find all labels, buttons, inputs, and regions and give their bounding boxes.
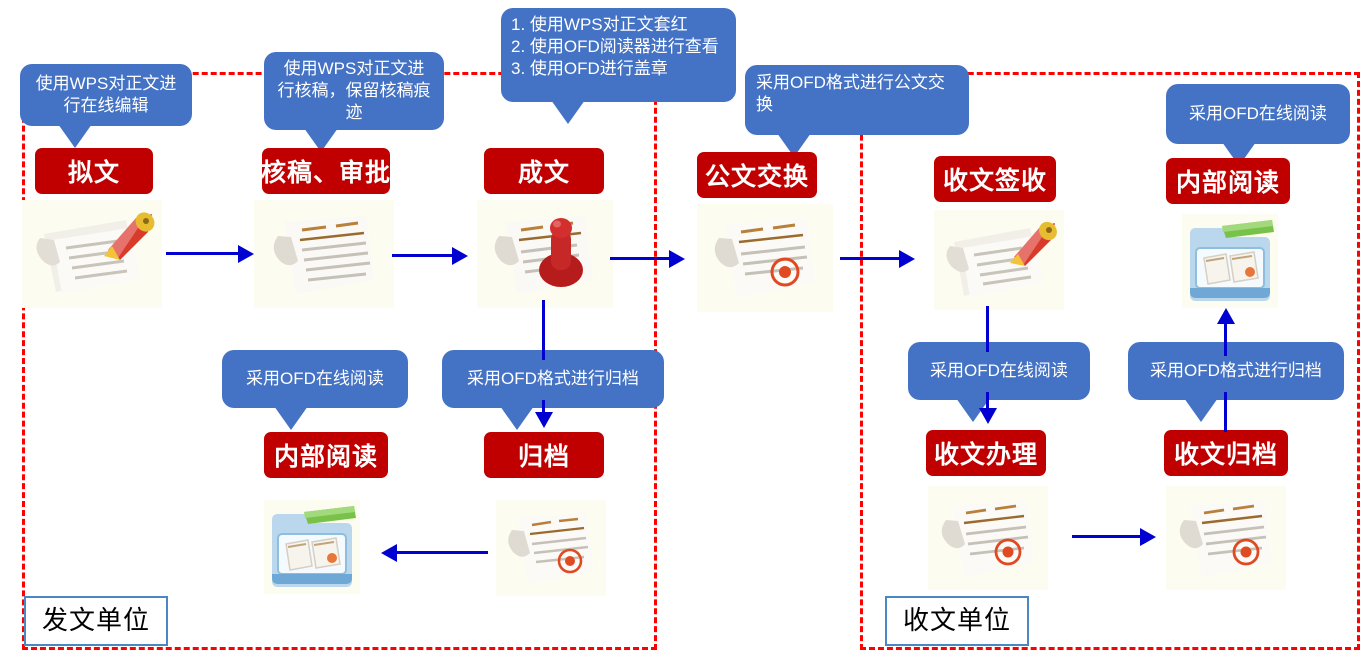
stage-shouwen-guidang[interactable]: 收文归档 [1164, 430, 1288, 476]
callout-nifen: 使用WPS对正文进行在线编辑 [20, 64, 192, 126]
stage-neibu-left[interactable]: 内部阅读 [264, 432, 388, 478]
stage-banli[interactable]: 收文办理 [926, 430, 1046, 476]
callout-neibu-left: 采用OFD在线阅读 [222, 350, 408, 408]
callout-neibu-right-text: 采用OFD在线阅读 [1178, 103, 1338, 125]
callout-gongwen: 采用OFD格式进行公文交换 [745, 65, 969, 135]
callout-shouwen-gd-text: 采用OFD格式进行归档 [1140, 360, 1332, 382]
document-with-pen-icon [22, 200, 162, 308]
callout-tail-icon [274, 406, 308, 430]
stage-chengwen[interactable]: 成文 [484, 148, 604, 194]
stage-hegao[interactable]: 核稿、审批 [262, 148, 390, 194]
stage-chengwen-label: 成文 [518, 153, 570, 189]
stage-qianshou-label: 收文签收 [943, 161, 1047, 197]
callout-tail-icon [1184, 398, 1218, 422]
callout-nifen-text: 使用WPS对正文进行在线编辑 [32, 73, 180, 117]
document-sealed-icon [928, 486, 1048, 590]
stage-qianshou[interactable]: 收文签收 [934, 156, 1056, 202]
callout-hegao: 使用WPS对正文进行核稿，保留核稿痕迹 [264, 52, 444, 130]
document-with-pen-icon [934, 210, 1064, 310]
document-sealed-icon [496, 500, 606, 596]
callout-tail-icon [58, 124, 92, 148]
stage-neibu-right[interactable]: 内部阅读 [1166, 158, 1290, 204]
diagram-canvas: 发文单位 收文单位 使用WPS对正文进行在线编辑 使用WPS对正文进行核稿，保留… [0, 0, 1372, 668]
zone-receiver-label-text: 收文单位 [903, 605, 1011, 635]
callout-gongwen-text: 采用OFD格式进行公文交换 [756, 72, 958, 116]
callout-guidang: 采用OFD格式进行归档 [442, 350, 664, 408]
document-sealed-icon [1166, 486, 1286, 590]
callout-chengwen-text: 1. 使用WPS对正文套红 2. 使用OFD阅读器进行查看 3. 使用OFD进行… [511, 14, 726, 79]
stage-banli-label: 收文办理 [934, 435, 1038, 471]
document-icon [254, 200, 394, 308]
archive-folder-icon [264, 500, 360, 594]
document-with-stamp-icon [477, 200, 613, 308]
callout-guidang-text: 采用OFD格式进行归档 [454, 368, 652, 390]
stage-gongwen[interactable]: 公文交换 [697, 152, 817, 198]
callout-hegao-text: 使用WPS对正文进行核稿，保留核稿痕迹 [276, 58, 432, 123]
callout-tail-icon [551, 100, 585, 124]
stage-gongwen-label: 公文交换 [705, 157, 809, 193]
stage-hegao-label: 核稿、审批 [261, 153, 391, 189]
zone-receiver-label: 收文单位 [885, 596, 1029, 646]
callout-chengwen: 1. 使用WPS对正文套红 2. 使用OFD阅读器进行查看 3. 使用OFD进行… [501, 8, 736, 102]
callout-neibu-right: 采用OFD在线阅读 [1166, 84, 1350, 144]
callout-tail-icon [500, 406, 534, 430]
callout-shouwen-gd: 采用OFD格式进行归档 [1128, 342, 1344, 400]
callout-banli: 采用OFD在线阅读 [908, 342, 1090, 400]
callout-banli-text: 采用OFD在线阅读 [920, 360, 1078, 382]
stage-nifen[interactable]: 拟文 [35, 148, 153, 194]
stage-guidang[interactable]: 归档 [484, 432, 604, 478]
stage-guidang-label: 归档 [518, 437, 570, 473]
callout-neibu-left-text: 采用OFD在线阅读 [234, 368, 396, 390]
document-sealed-icon [697, 204, 833, 312]
stage-shouwen-guidang-label: 收文归档 [1174, 435, 1278, 471]
stage-neibu-right-label: 内部阅读 [1176, 163, 1280, 199]
stage-nifen-label: 拟文 [68, 153, 120, 189]
archive-folder-icon [1182, 214, 1278, 308]
stage-neibu-left-label: 内部阅读 [274, 437, 378, 473]
zone-sender-label-text: 发文单位 [42, 605, 150, 635]
zone-sender-label: 发文单位 [24, 596, 168, 646]
